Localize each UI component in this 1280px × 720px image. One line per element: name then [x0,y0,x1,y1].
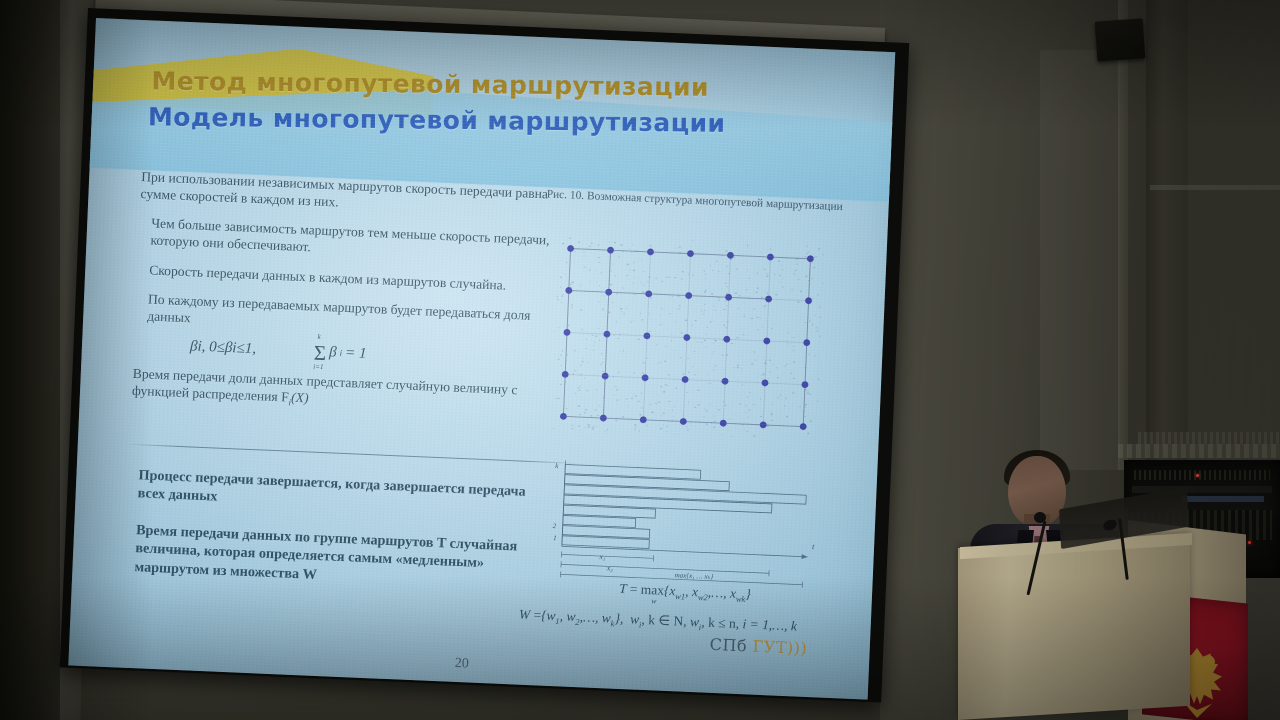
rack-led-red [1248,541,1251,544]
paragraph-5-text: Время передачи доли данных представляет … [132,366,518,405]
wall-pillar [1146,0,1188,470]
rack-led-indicator [1196,474,1199,477]
slide-divider [126,444,578,464]
eq-T-max-under: w [651,596,656,605]
eq-T-close: } [745,586,751,601]
eq-W-close: }, [614,610,623,625]
gantt-ytick-1: 1 [553,534,557,542]
bottom-paragraph-1: Процесс передачи завершается, когда заве… [127,466,528,520]
slide-left-column: При использовании независимых маршрутов … [131,168,561,432]
gantt-ytick-2: 2 [553,522,557,530]
formula-beta-row: βi, 0≤βi≤1, Σ k i=1 β i = 1 [134,336,554,371]
eq-T-sub1: w1 [675,591,685,601]
logo-text-a: СПб [709,635,753,656]
formula-beta-constraint: βi, 0≤βi≤1, [190,338,257,358]
gantt-annotation-x2: x₂ [606,563,614,572]
doorway-frame [1040,50,1120,470]
paragraph-4: По каждому из передаваемых маршрутов буд… [135,290,556,342]
gantt-annotation-max: max{x₁ … xₖ} [675,571,714,581]
podium [958,534,1190,720]
eq-W-cond1t: , k ∈ N, [641,612,687,629]
eq-T-mid2: ,…, x [708,585,737,601]
rack-module-2 [1182,496,1264,502]
sigma-body-index: i [339,348,342,358]
eq-T-max-operator: maxw [640,582,664,599]
eq-W-c1: , w [559,608,575,624]
logo-text-b: ГУТ))) [752,637,807,658]
sigma-glyph: Σ [314,345,327,362]
equation-W: W ={w1, w2,…, wk}, wi, k ∈ N, wi, k ≤ n,… [518,606,848,638]
eq-W-body: {w [541,607,556,623]
network-topology-chart [549,234,825,441]
gantt-ytick-k: k [555,462,559,470]
paragraph-5-tail: (X) [291,390,309,406]
sigma-tail: = 1 [345,345,367,363]
conference-room-scene: Метод многопутевой маршрутизации Модель … [0,0,1280,720]
ceiling-speaker-icon [1095,18,1146,61]
eq-W-cond3: i = 1,…, k [742,616,797,633]
eq-T-sub3: wk [736,594,746,604]
sigma-body: β [329,344,337,361]
pillar-edge [1118,0,1128,470]
room-wall-left-shadow [0,0,60,720]
paragraph-5: Время передачи доли данных представляет … [132,365,553,420]
gantt-annotation-x1: x₁ [598,552,606,561]
microphone-left-head-icon [1034,512,1046,523]
university-logo: СПб ГУТ))) [709,635,807,658]
eq-T-sub2: w2 [698,592,708,602]
slide-number: 20 [454,656,469,673]
gantt-x-arrow [802,554,808,559]
eq-T-equals: = [629,581,637,596]
eq-T-mid: , x [685,584,698,600]
projected-slide: Метод многопутевой маршрутизации Модель … [68,18,895,700]
sigma-upper-limit: k [317,333,320,341]
formula-beta-sum: Σ k i=1 β i = 1 [314,344,367,363]
wall-radiator [1138,432,1280,444]
eq-W-c2: ,…, w [579,609,611,625]
eq-W-lhs: W [519,606,531,621]
rack-top-trim [1118,444,1280,458]
gantt-xlabel: t [812,542,815,551]
slide-bottom-left-column: Процесс передачи завершается, когда заве… [123,466,528,611]
bottom-paragraph-2: Время передачи данных по группе маршруто… [124,521,526,593]
sigma-lower-limit: i=1 [313,362,324,370]
rack-vent-icon [1134,470,1270,480]
route-completion-gantt-chart: k 2 1 t x₁ x₂ max{x₁ … xₖ} [524,453,829,594]
wall-cornice [1150,185,1280,190]
paragraph-2: Чем больше зависимость маршрутов тем мен… [138,214,559,266]
paragraph-3: Скорость передачи данных в каждом из мар… [137,261,557,296]
eq-T-lhs: T [619,581,627,596]
eq-W-cond2t: , k ≤ n, [701,614,739,631]
